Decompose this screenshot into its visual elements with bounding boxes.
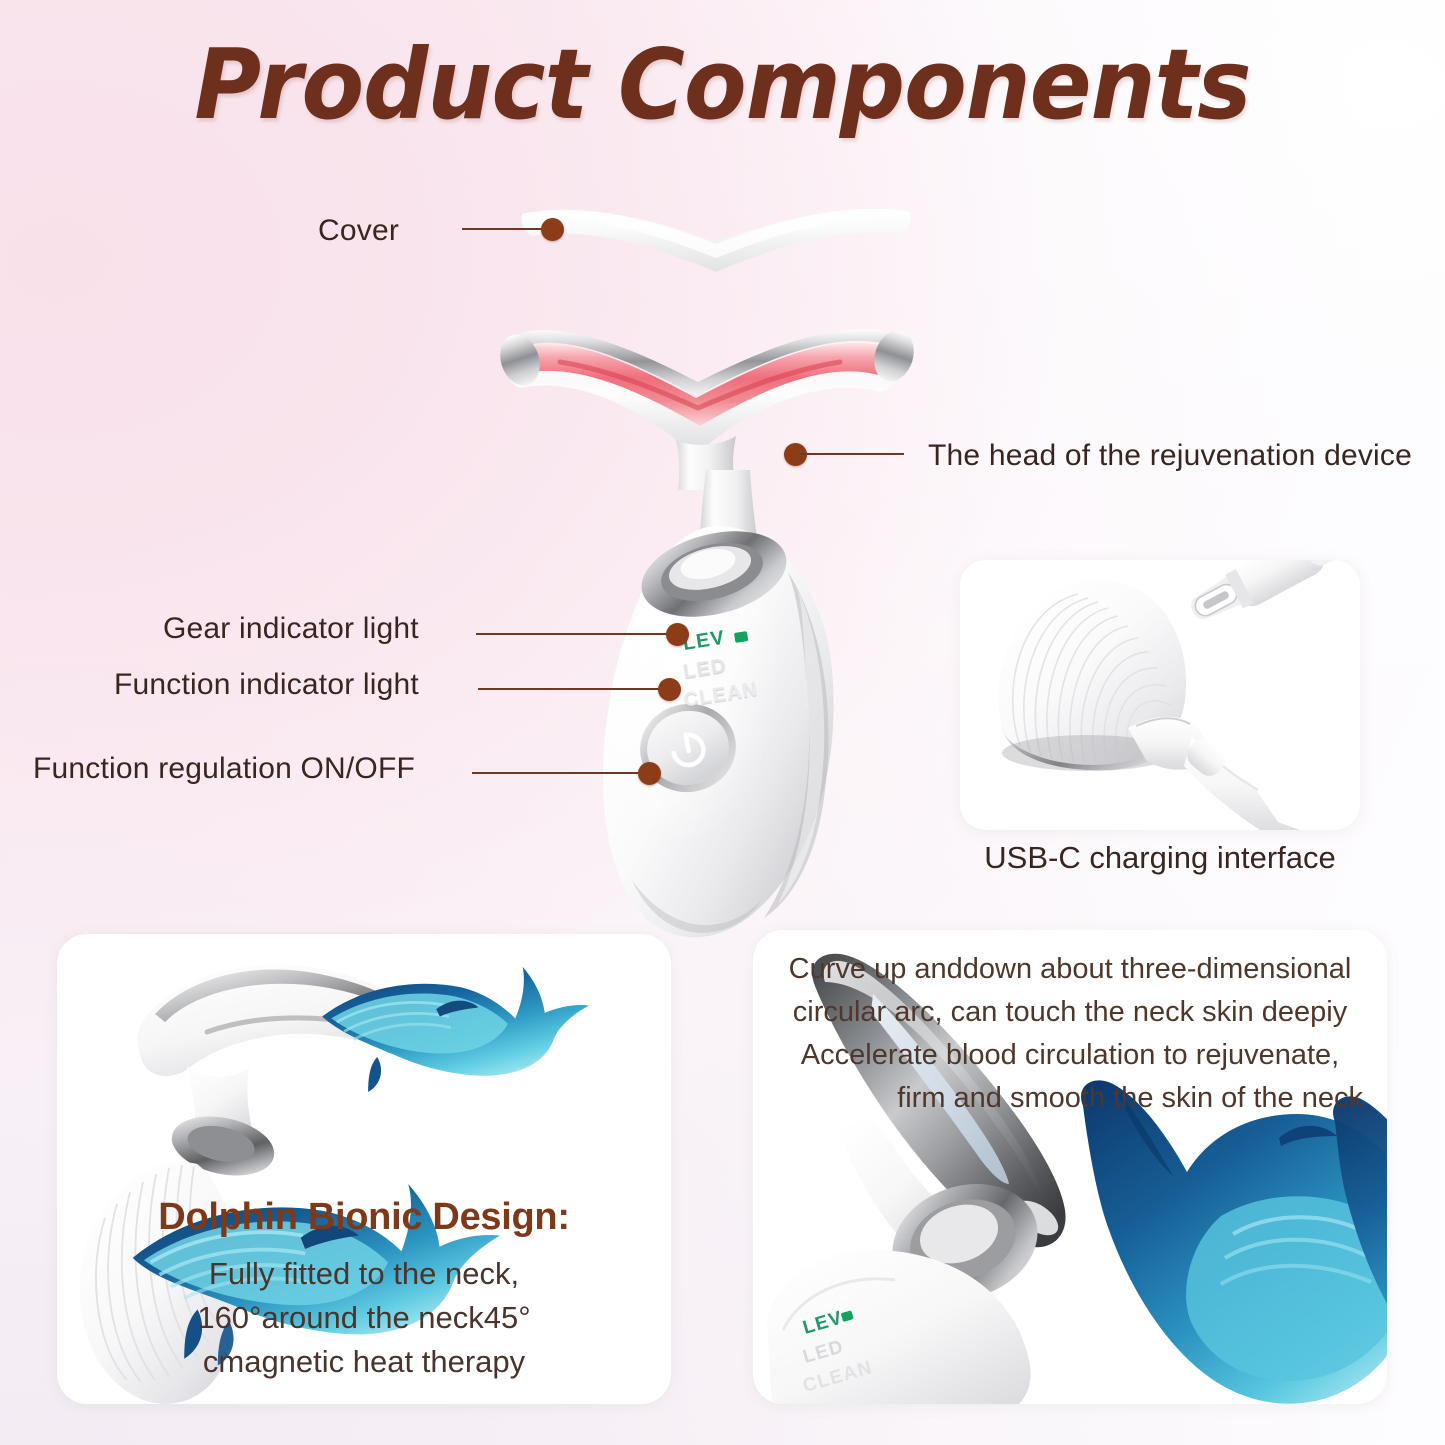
callout-label-head: The head of the rejuvenation device	[928, 439, 1412, 473]
curve-body-line-1: Curve up anddown about three-dimensional	[773, 948, 1367, 991]
callout-leader-cover	[462, 228, 546, 230]
usb-c-caption: USB-C charging interface	[960, 840, 1360, 876]
callout-label-gear: Gear indicator light	[163, 612, 419, 646]
dolphin-design-heading: Dolphin Bionic Design:	[57, 1196, 671, 1239]
indicator-lev-chip	[734, 631, 748, 643]
device-cover-image	[516, 196, 916, 308]
whale-tail-illustration	[1081, 1080, 1387, 1403]
usb-c-connector-icon	[1183, 560, 1360, 633]
curve-body-line-2: circular arc, can touch the neck skin de…	[773, 991, 1367, 1034]
callout-leader-function	[478, 688, 664, 690]
curve-body-line-3: Accelerate blood circulation to rejuvena…	[773, 1034, 1367, 1077]
dolphin-body-line-3: cmagnetic heat therapy	[57, 1340, 671, 1384]
callout-leader-head	[800, 453, 904, 455]
curve-design-body: Curve up anddown about three-dimensional…	[773, 948, 1367, 1120]
callout-dot-cover	[541, 218, 564, 241]
callout-leader-power	[472, 772, 644, 774]
indicator-clean: CLEAN	[682, 678, 760, 712]
callout-dot-power	[638, 762, 661, 785]
callout-dot-function	[658, 678, 681, 701]
callout-label-power: Function regulation ON/OFF	[33, 752, 415, 786]
device-body-image	[592, 520, 844, 940]
dolphin-body-line-1: Fully fitted to the neck,	[57, 1252, 671, 1296]
device-indicator-group: LEV LED CLEAN	[677, 613, 811, 729]
indicator-led: LED	[682, 655, 729, 685]
dolphin-body-line-2: 160°around the neck45°	[57, 1296, 671, 1340]
page-title: Product Components	[43, 28, 1401, 141]
usb-c-panel	[960, 560, 1360, 830]
callout-leader-gear	[476, 633, 672, 635]
callout-dot-gear	[666, 623, 689, 646]
dolphin-design-body: Fully fitted to the neck, 160°around the…	[57, 1252, 671, 1384]
infographic-canvas: Product Components	[0, 0, 1445, 1445]
curve-body-line-4: firm and smooth the skin of the neck	[773, 1077, 1367, 1120]
callout-label-cover: Cover	[318, 214, 399, 248]
callout-label-function: Function indicator light	[114, 668, 419, 702]
